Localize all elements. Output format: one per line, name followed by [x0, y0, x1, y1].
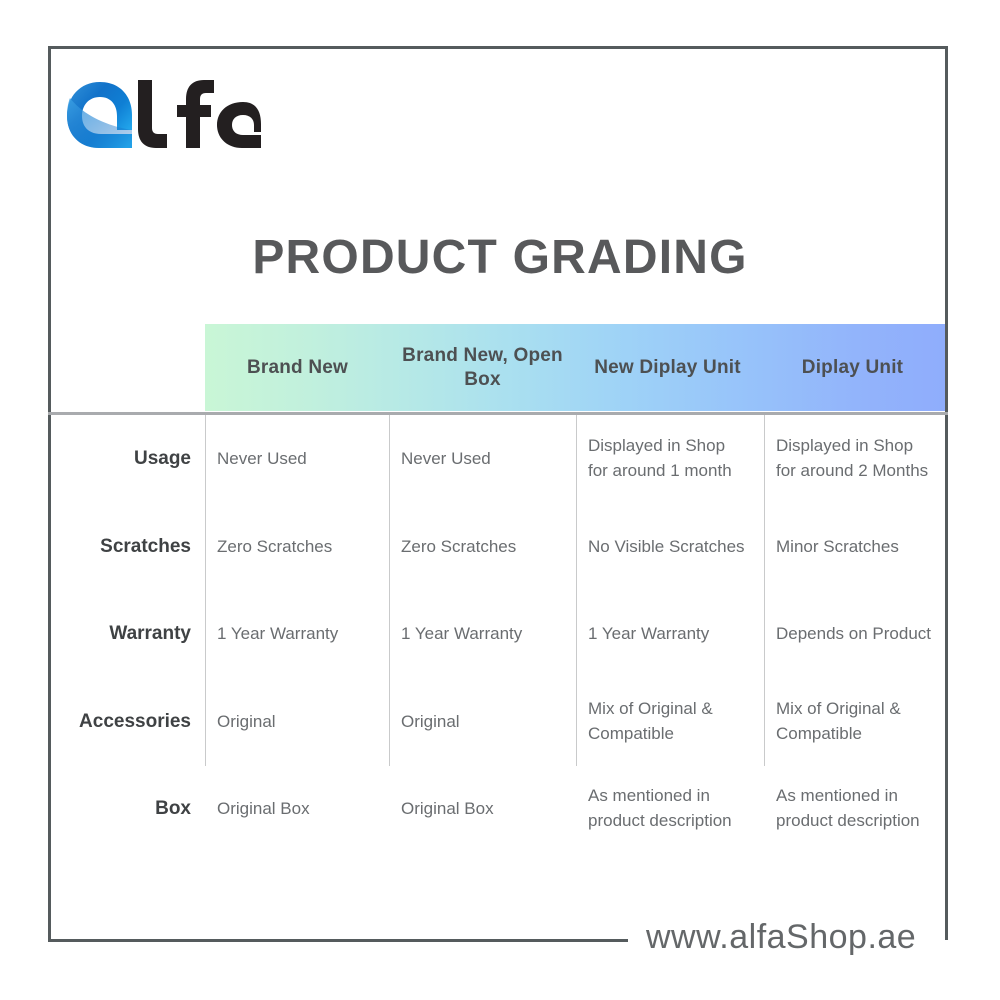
cell-warranty-new-display-unit: 1 Year Warranty — [576, 590, 764, 678]
cell-scratches-new-display-unit: No Visible Scratches — [576, 503, 764, 591]
table-row: Accessories Original Original Mix of Ori… — [48, 678, 948, 766]
cell-accessories-open-box: Original — [389, 678, 576, 766]
alfa-logo-icon — [66, 78, 262, 150]
cell-box-open-box: Original Box — [389, 765, 576, 853]
row-label-scratches: Scratches — [48, 503, 205, 591]
row-label-accessories: Accessories — [48, 678, 205, 766]
site-url[interactable]: www.alfaShop.ae — [640, 918, 922, 957]
cell-warranty-display-unit: Depends on Product — [764, 590, 948, 678]
table-row: Warranty 1 Year Warranty 1 Year Warranty… — [48, 590, 948, 678]
column-header-display-unit: Diplay Unit — [760, 324, 945, 411]
cell-scratches-display-unit: Minor Scratches — [764, 503, 948, 591]
column-header-brand-new-open-box: Brand New, Open Box — [390, 324, 575, 411]
table-row: Scratches Zero Scratches Zero Scratches … — [48, 503, 948, 591]
table-header-row: Brand New Brand New, Open Box New Diplay… — [205, 324, 945, 411]
cell-accessories-new-display-unit: Mix of Original & Compatible — [576, 678, 764, 766]
row-label-box: Box — [48, 765, 205, 853]
table-row: Usage Never Used Never Used Displayed in… — [48, 415, 948, 503]
cell-usage-brand-new: Never Used — [205, 415, 389, 503]
cell-warranty-open-box: 1 Year Warranty — [389, 590, 576, 678]
cell-box-brand-new: Original Box — [205, 765, 389, 853]
table-row: Box Original Box Original Box As mention… — [48, 765, 948, 853]
cell-usage-display-unit: Displayed in Shop for around 2 Months — [764, 415, 948, 503]
alfa-logo — [66, 78, 262, 150]
cell-accessories-display-unit: Mix of Original & Compatible — [764, 678, 948, 766]
cell-usage-new-display-unit: Displayed in Shop for around 1 month — [576, 415, 764, 503]
frame-bottom-edge — [48, 939, 628, 942]
cell-scratches-open-box: Zero Scratches — [389, 503, 576, 591]
page-title: PRODUCT GRADING — [0, 230, 1000, 285]
cell-usage-open-box: Never Used — [389, 415, 576, 503]
cell-box-display-unit: As mentioned in product description — [764, 765, 948, 853]
cell-scratches-brand-new: Zero Scratches — [205, 503, 389, 591]
row-label-warranty: Warranty — [48, 590, 205, 678]
table-body: Usage Never Used Never Used Displayed in… — [48, 415, 948, 766]
cell-box-new-display-unit: As mentioned in product description — [576, 765, 764, 853]
row-label-usage: Usage — [48, 415, 205, 503]
cell-warranty-brand-new: 1 Year Warranty — [205, 590, 389, 678]
cell-accessories-brand-new: Original — [205, 678, 389, 766]
column-header-brand-new: Brand New — [205, 324, 390, 411]
column-header-new-display-unit: New Diplay Unit — [575, 324, 760, 411]
frame-top-edge — [48, 46, 948, 49]
